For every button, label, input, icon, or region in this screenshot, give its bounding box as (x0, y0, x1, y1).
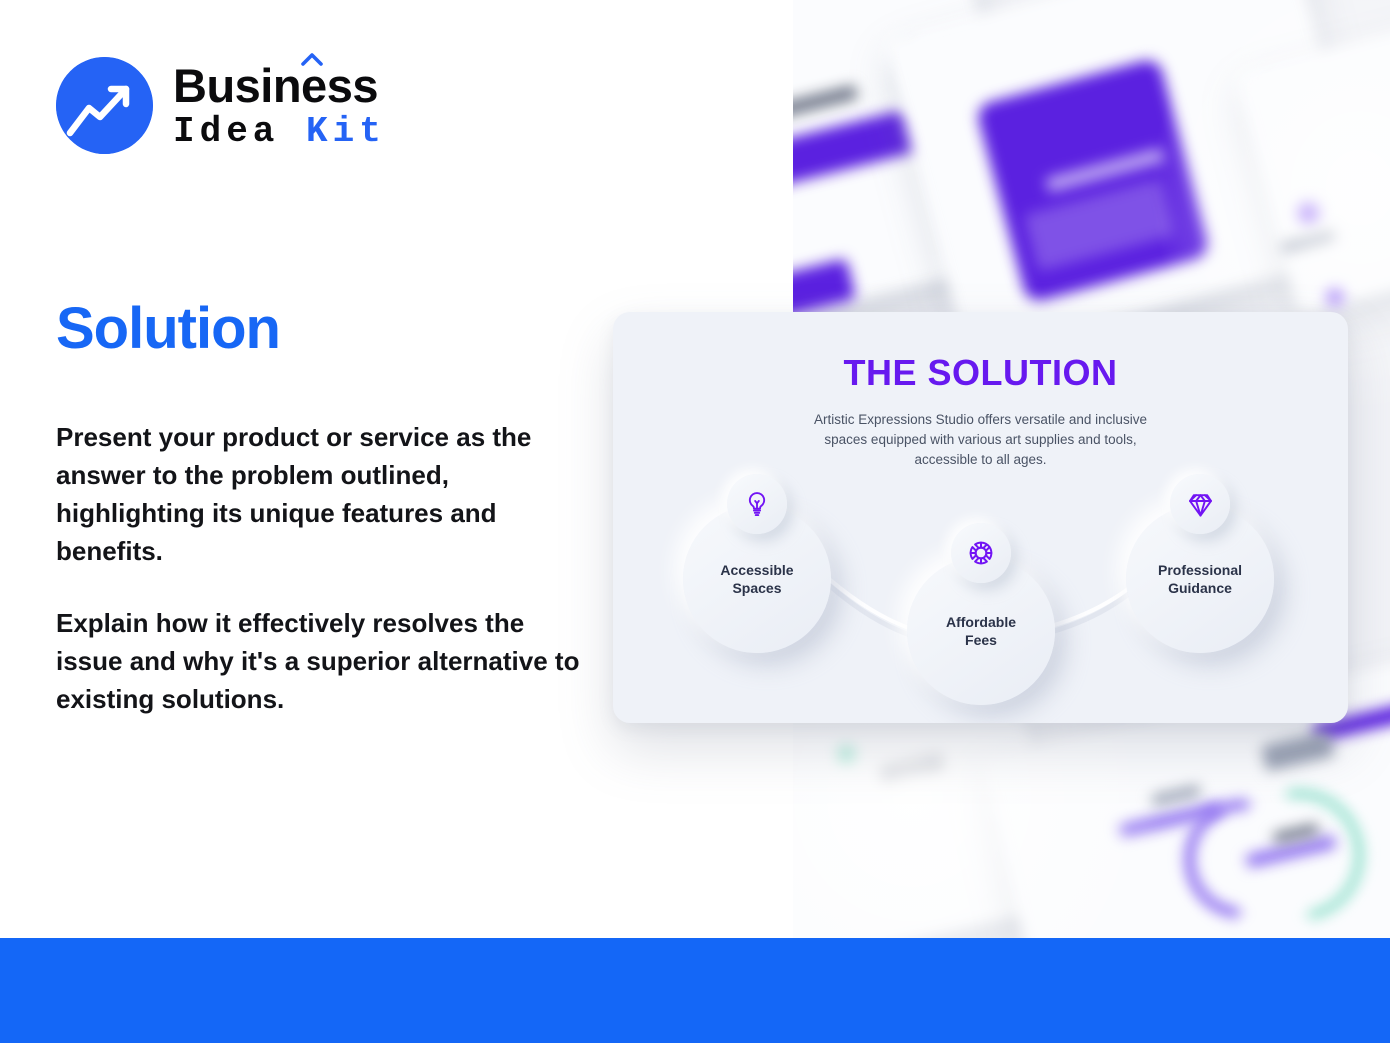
node-label-line2: Guidance (1168, 580, 1232, 596)
circumflex-accent-icon (301, 52, 323, 66)
solution-node-badge-3 (1170, 474, 1230, 534)
solution-card: THE SOLUTION Artistic Expressions Studio… (613, 312, 1348, 723)
mock-dot-green (838, 745, 856, 763)
brand-logo: Business Idea Kit (56, 57, 386, 154)
mock-dot-purple-2 (1326, 288, 1344, 306)
solution-node-label: Accessible Spaces (720, 561, 793, 597)
node-label-line1: Accessible (720, 562, 793, 578)
body-paragraph-1: Present your product or service as the a… (56, 418, 586, 570)
footer-bar (0, 938, 1390, 1043)
page-title: Solution (56, 295, 280, 362)
brand-wordmark: Business Idea Kit (173, 62, 386, 150)
body-copy: Present your product or service as the a… (56, 418, 586, 718)
solution-node-label: Affordable Fees (946, 613, 1016, 649)
brand-name-business: Business (173, 59, 378, 112)
lightbulb-icon (743, 490, 771, 518)
solution-node-badge-1 (727, 474, 787, 534)
slide-root: THE SOLUTION Artistic Expressions Studio… (0, 0, 1390, 1043)
brand-name-line2: Idea Kit (173, 114, 386, 150)
node-label-line2: Spaces (732, 580, 781, 596)
solution-card-description: Artistic Expressions Studio offers versa… (801, 410, 1161, 470)
logo-circle-trending-up-icon (56, 57, 153, 154)
lifebuoy-icon (967, 539, 995, 567)
brand-name-line1: Business (173, 62, 378, 109)
node-label-line2: Fees (965, 632, 997, 648)
mock-dot-purple-1 (1298, 202, 1320, 224)
body-paragraph-2: Explain how it effectively resolves the … (56, 604, 586, 718)
brand-name-idea: Idea (173, 111, 279, 152)
brand-name-kit: Kit (306, 111, 386, 152)
solution-card-title: THE SOLUTION (613, 352, 1348, 394)
solution-node-label: Professional Guidance (1158, 561, 1242, 597)
solution-node-badge-2 (951, 523, 1011, 583)
diamond-gem-icon (1186, 490, 1215, 519)
node-label-line1: Affordable (946, 614, 1016, 630)
node-label-line1: Professional (1158, 562, 1242, 578)
